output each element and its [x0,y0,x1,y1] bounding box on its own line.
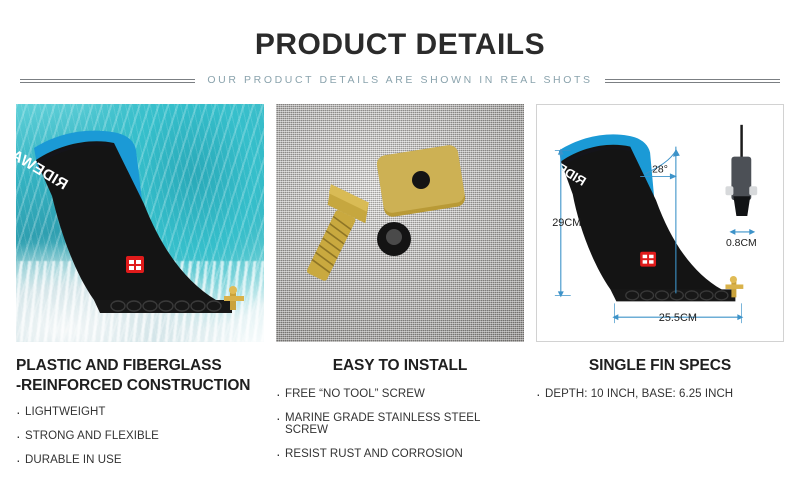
fin-illustration: RIDEWAVE [16,104,264,342]
rule-left [20,78,195,83]
panel-specs: RIDEWAVE [536,104,784,478]
heading-line-1: SINGLE FIN SPECS [536,356,784,376]
fin-on-ocean-wave-photo: RIDEWAVE [16,104,264,342]
page-subtitle: OUR PRODUCT DETAILS ARE SHOWN IN REAL SH… [195,74,604,86]
page-header: PRODUCT DETAILS OUR PRODUCT DETAILS ARE … [0,0,800,86]
fin-dimension-diagram: RIDEWAVE [536,104,784,342]
list-item: RESIST RUST AND CORROSION [276,448,524,460]
feature-list-install: FREE “NO TOOL” SCREW MARINE GRADE STAINL… [276,388,524,460]
fin-shape-svg: RIDEWAVE [16,104,264,342]
feature-list-specs: DEPTH: 10 INCH, BASE: 6.25 INCH [536,388,784,400]
list-item: MARINE GRADE STAINLESS STEEL SCREW [276,412,524,436]
panel-heading-specs: SINGLE FIN SPECS [536,356,784,376]
list-item: DURABLE IN USE [16,454,264,466]
panel-heading-construction: PLASTIC AND FIBERGLASS -REINFORCED CONST… [16,356,264,396]
heading-line-2: -REINFORCED CONSTRUCTION [16,376,264,396]
subtitle-row: OUR PRODUCT DETAILS ARE SHOWN IN REAL SH… [0,74,800,86]
dimension-height-label: 29CM [552,217,581,229]
page-title: PRODUCT DETAILS [0,30,800,60]
feature-list-construction: LIGHTWEIGHT STRONG AND FLEXIBLE DURABLE … [16,406,264,466]
dimension-angle-label: 28° [652,164,668,175]
product-panels: RIDEWAVE [0,86,800,478]
brass-thumb-screw [292,184,375,286]
hardware-svg [276,104,524,342]
screw-hardware-photo [276,104,524,342]
black-washer [377,222,411,256]
panel-install: EASY TO INSTALL FREE “NO TOOL” SCREW MAR… [276,104,524,478]
dimension-width-label: 25.5CM [659,312,697,324]
fin-red-label [126,256,144,273]
brass-mounting-plate [376,144,467,218]
fin-side-profile [725,125,757,216]
list-item: LIGHTWEIGHT [16,406,264,418]
panel-construction: RIDEWAVE [16,104,264,478]
list-item: STRONG AND FLEXIBLE [16,430,264,442]
list-item: FREE “NO TOOL” SCREW [276,388,524,400]
rule-right [605,78,780,83]
heading-line-1: EASY TO INSTALL [276,356,524,376]
list-item: DEPTH: 10 INCH, BASE: 6.25 INCH [536,388,784,400]
dimension-thickness-label: 0.8CM [726,238,757,249]
diagram-svg: RIDEWAVE [537,105,783,341]
panel-heading-install: EASY TO INSTALL [276,356,524,376]
diagram-red-label [640,252,656,267]
heading-line-1: PLASTIC AND FIBERGLASS [16,356,264,376]
